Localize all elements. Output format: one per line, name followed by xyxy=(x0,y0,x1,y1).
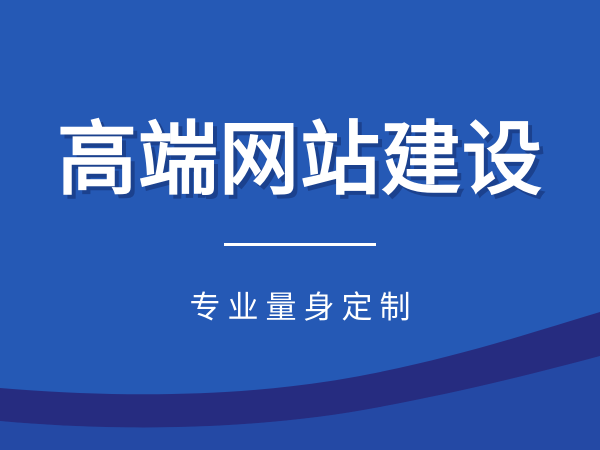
promo-banner: 高端网站建设 专业量身定制 xyxy=(0,0,600,450)
title-divider xyxy=(224,243,376,246)
page-title: 高端网站建设 xyxy=(0,112,600,208)
banner-content: 高端网站建设 专业量身定制 xyxy=(0,0,600,450)
page-subtitle: 专业量身定制 xyxy=(0,288,600,328)
